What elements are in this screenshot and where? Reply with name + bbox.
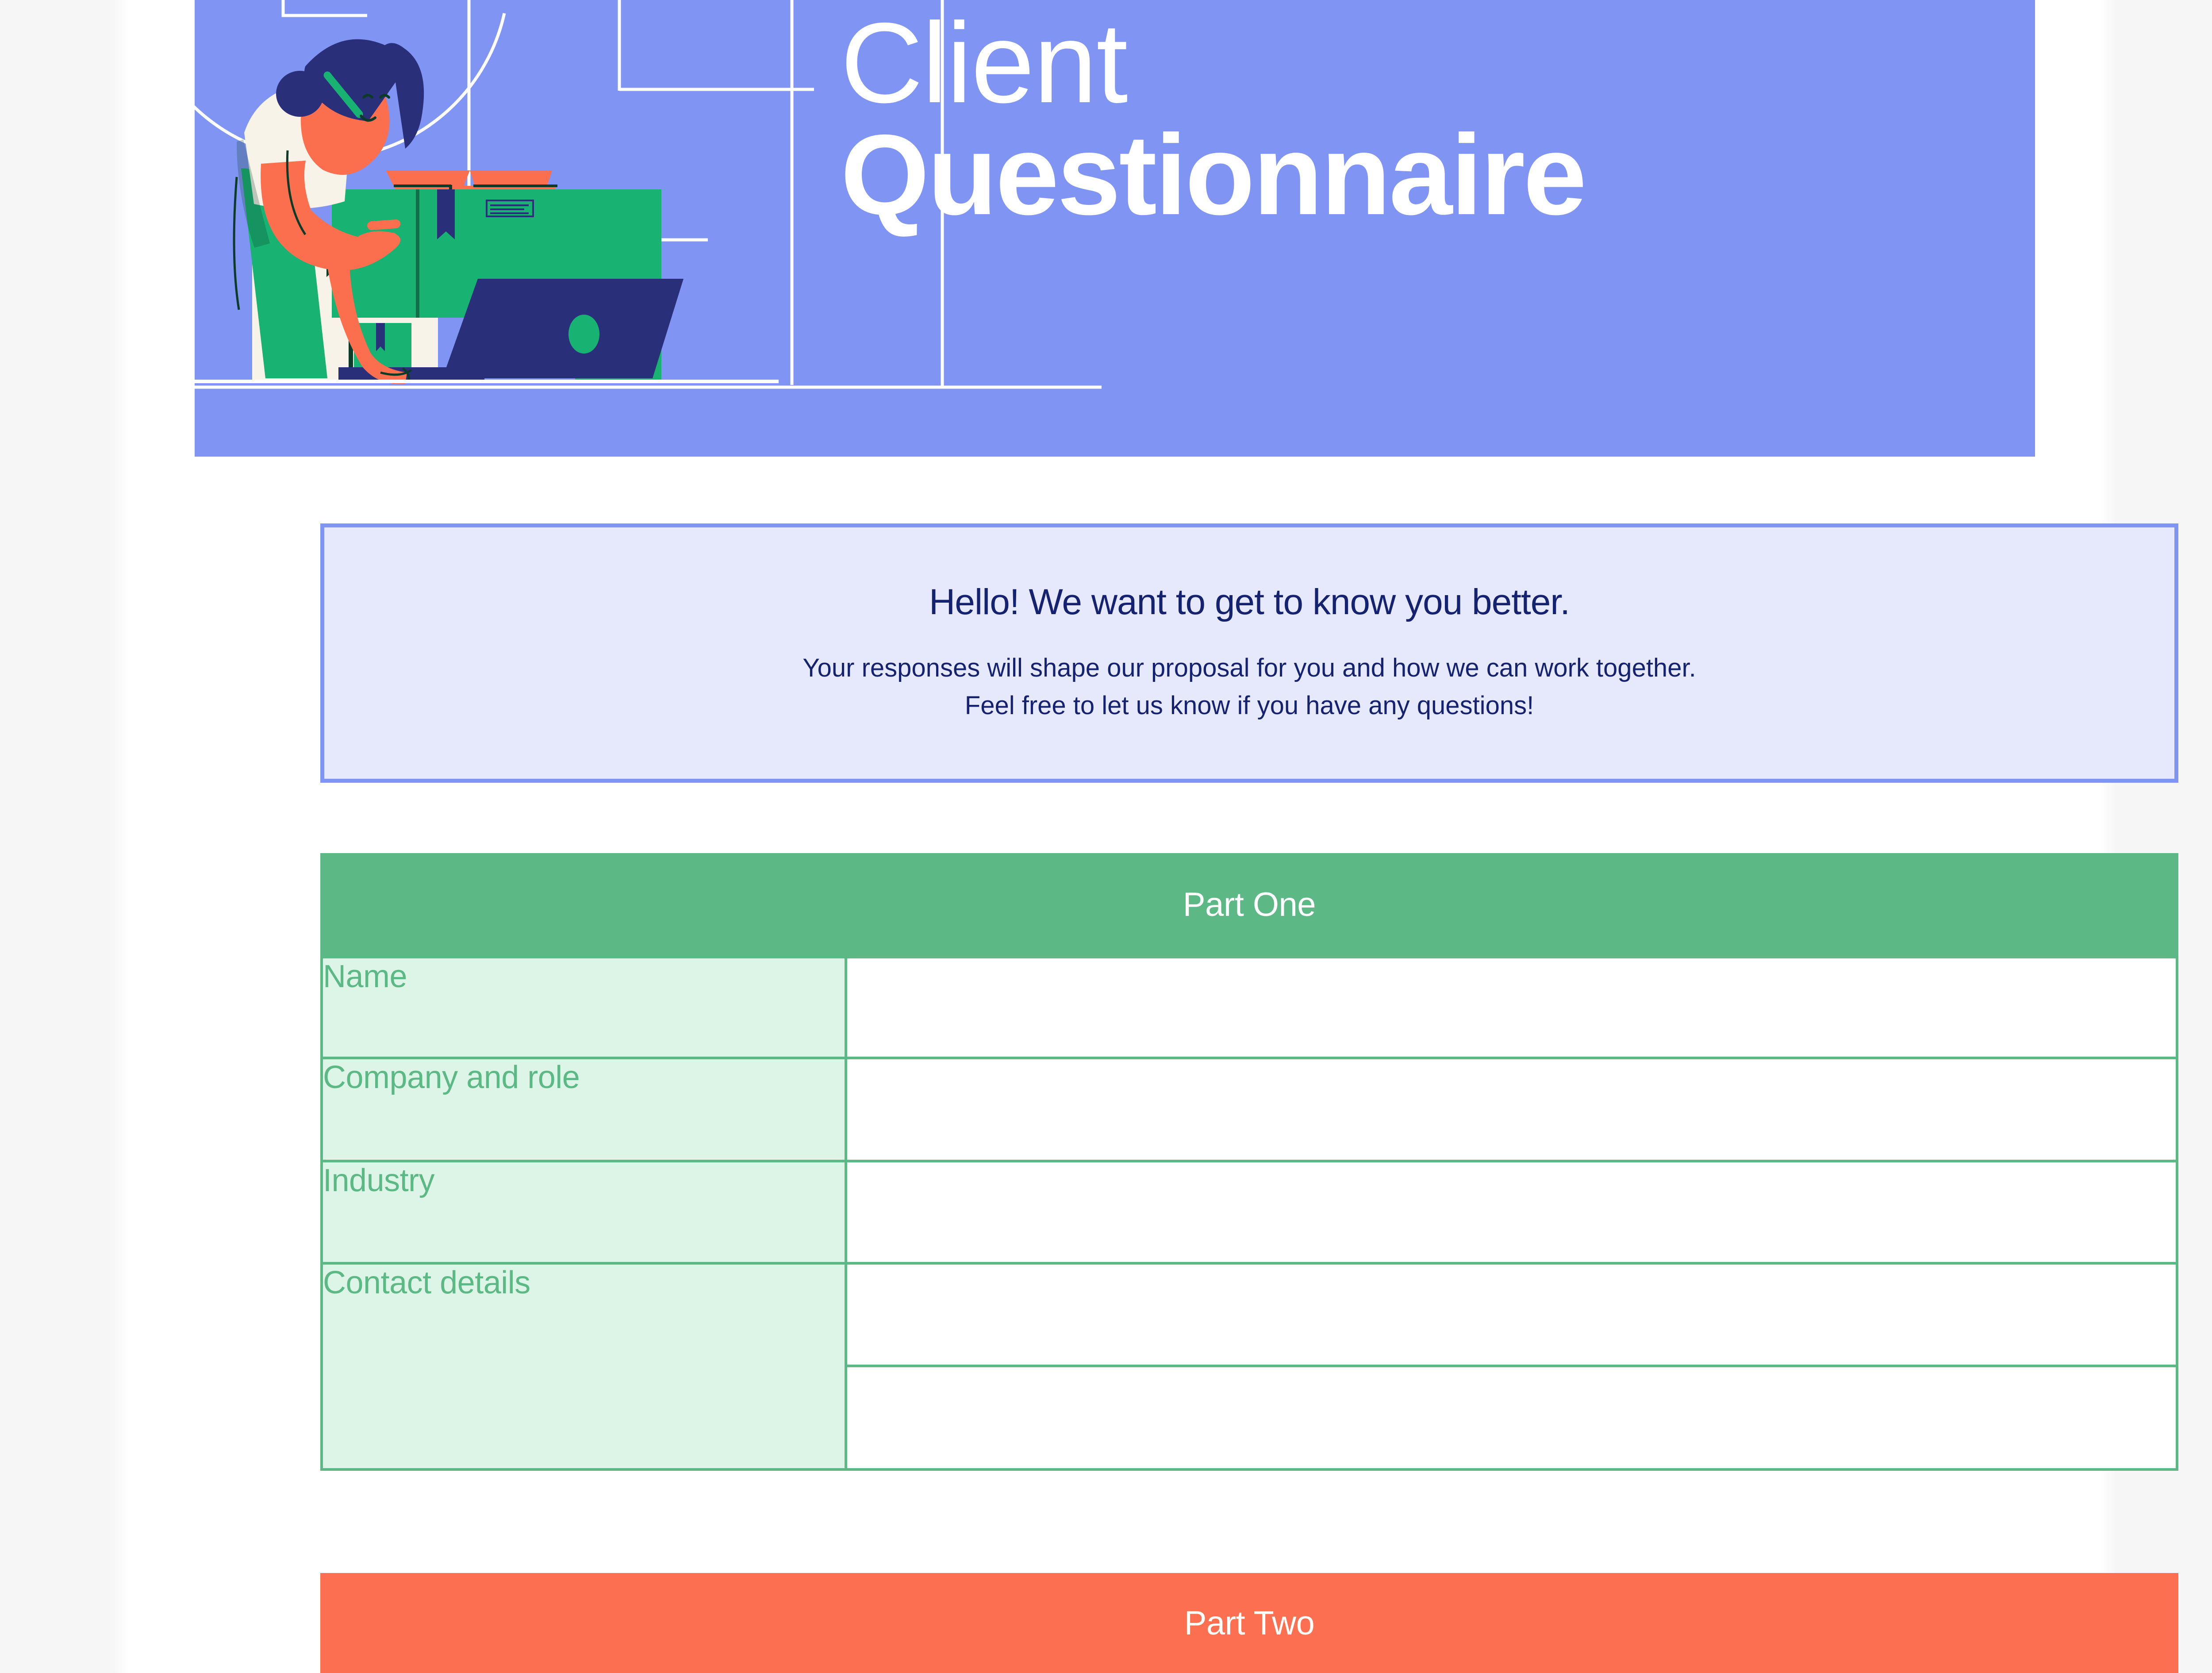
hero-illustration [195, 0, 779, 457]
section-header-part-one: Part One [320, 853, 2178, 956]
row-label-contact-details: Contact details [322, 1263, 846, 1469]
row-label-company-and-role: Company and role [322, 1058, 846, 1161]
label-text: Name [323, 959, 407, 994]
answer-field-industry[interactable] [846, 1161, 2177, 1263]
label-text: Industry [323, 1163, 434, 1198]
page-title: Client Questionnaire [841, 7, 2008, 231]
document-page: Client Questionnaire Hello! We want to g… [128, 0, 2101, 1673]
answer-field-contact-details-1[interactable] [846, 1263, 2177, 1366]
section-header-part-two: Part Two [320, 1573, 2178, 1673]
intro-line-1: Your responses will shape our proposal f… [803, 650, 1696, 687]
answer-field-name[interactable] [846, 957, 2177, 1058]
section-part-two: Part Two [320, 1573, 2178, 1673]
row-label-name: Name [322, 957, 846, 1058]
part-one-table: Name Company and role Industry [320, 956, 2178, 1471]
answer-field-company-and-role[interactable] [846, 1058, 2177, 1161]
table-row: Contact details [322, 1263, 2177, 1366]
table-row: Company and role [322, 1058, 2177, 1161]
intro-line-2: Feel free to let us know if you have any… [965, 687, 1534, 725]
answer-field-contact-details-2[interactable] [846, 1366, 2177, 1469]
screen-canvas: Client Questionnaire Hello! We want to g… [0, 0, 2212, 1673]
row-label-industry: Industry [322, 1161, 846, 1263]
hero-title-line1: Client [841, 7, 2008, 119]
intro-callout: Hello! We want to get to know you better… [320, 523, 2178, 783]
hero-title-line2: Questionnaire [841, 119, 2008, 231]
label-text: Contact details [323, 1265, 530, 1300]
table-row: Name [322, 957, 2177, 1058]
section-part-one: Part One Name Company and role [320, 853, 2178, 1471]
intro-heading: Hello! We want to get to know you better… [929, 581, 1570, 623]
hero-banner: Client Questionnaire [195, 0, 2035, 457]
table-row: Industry [322, 1161, 2177, 1263]
label-text: Company and role [323, 1060, 580, 1095]
